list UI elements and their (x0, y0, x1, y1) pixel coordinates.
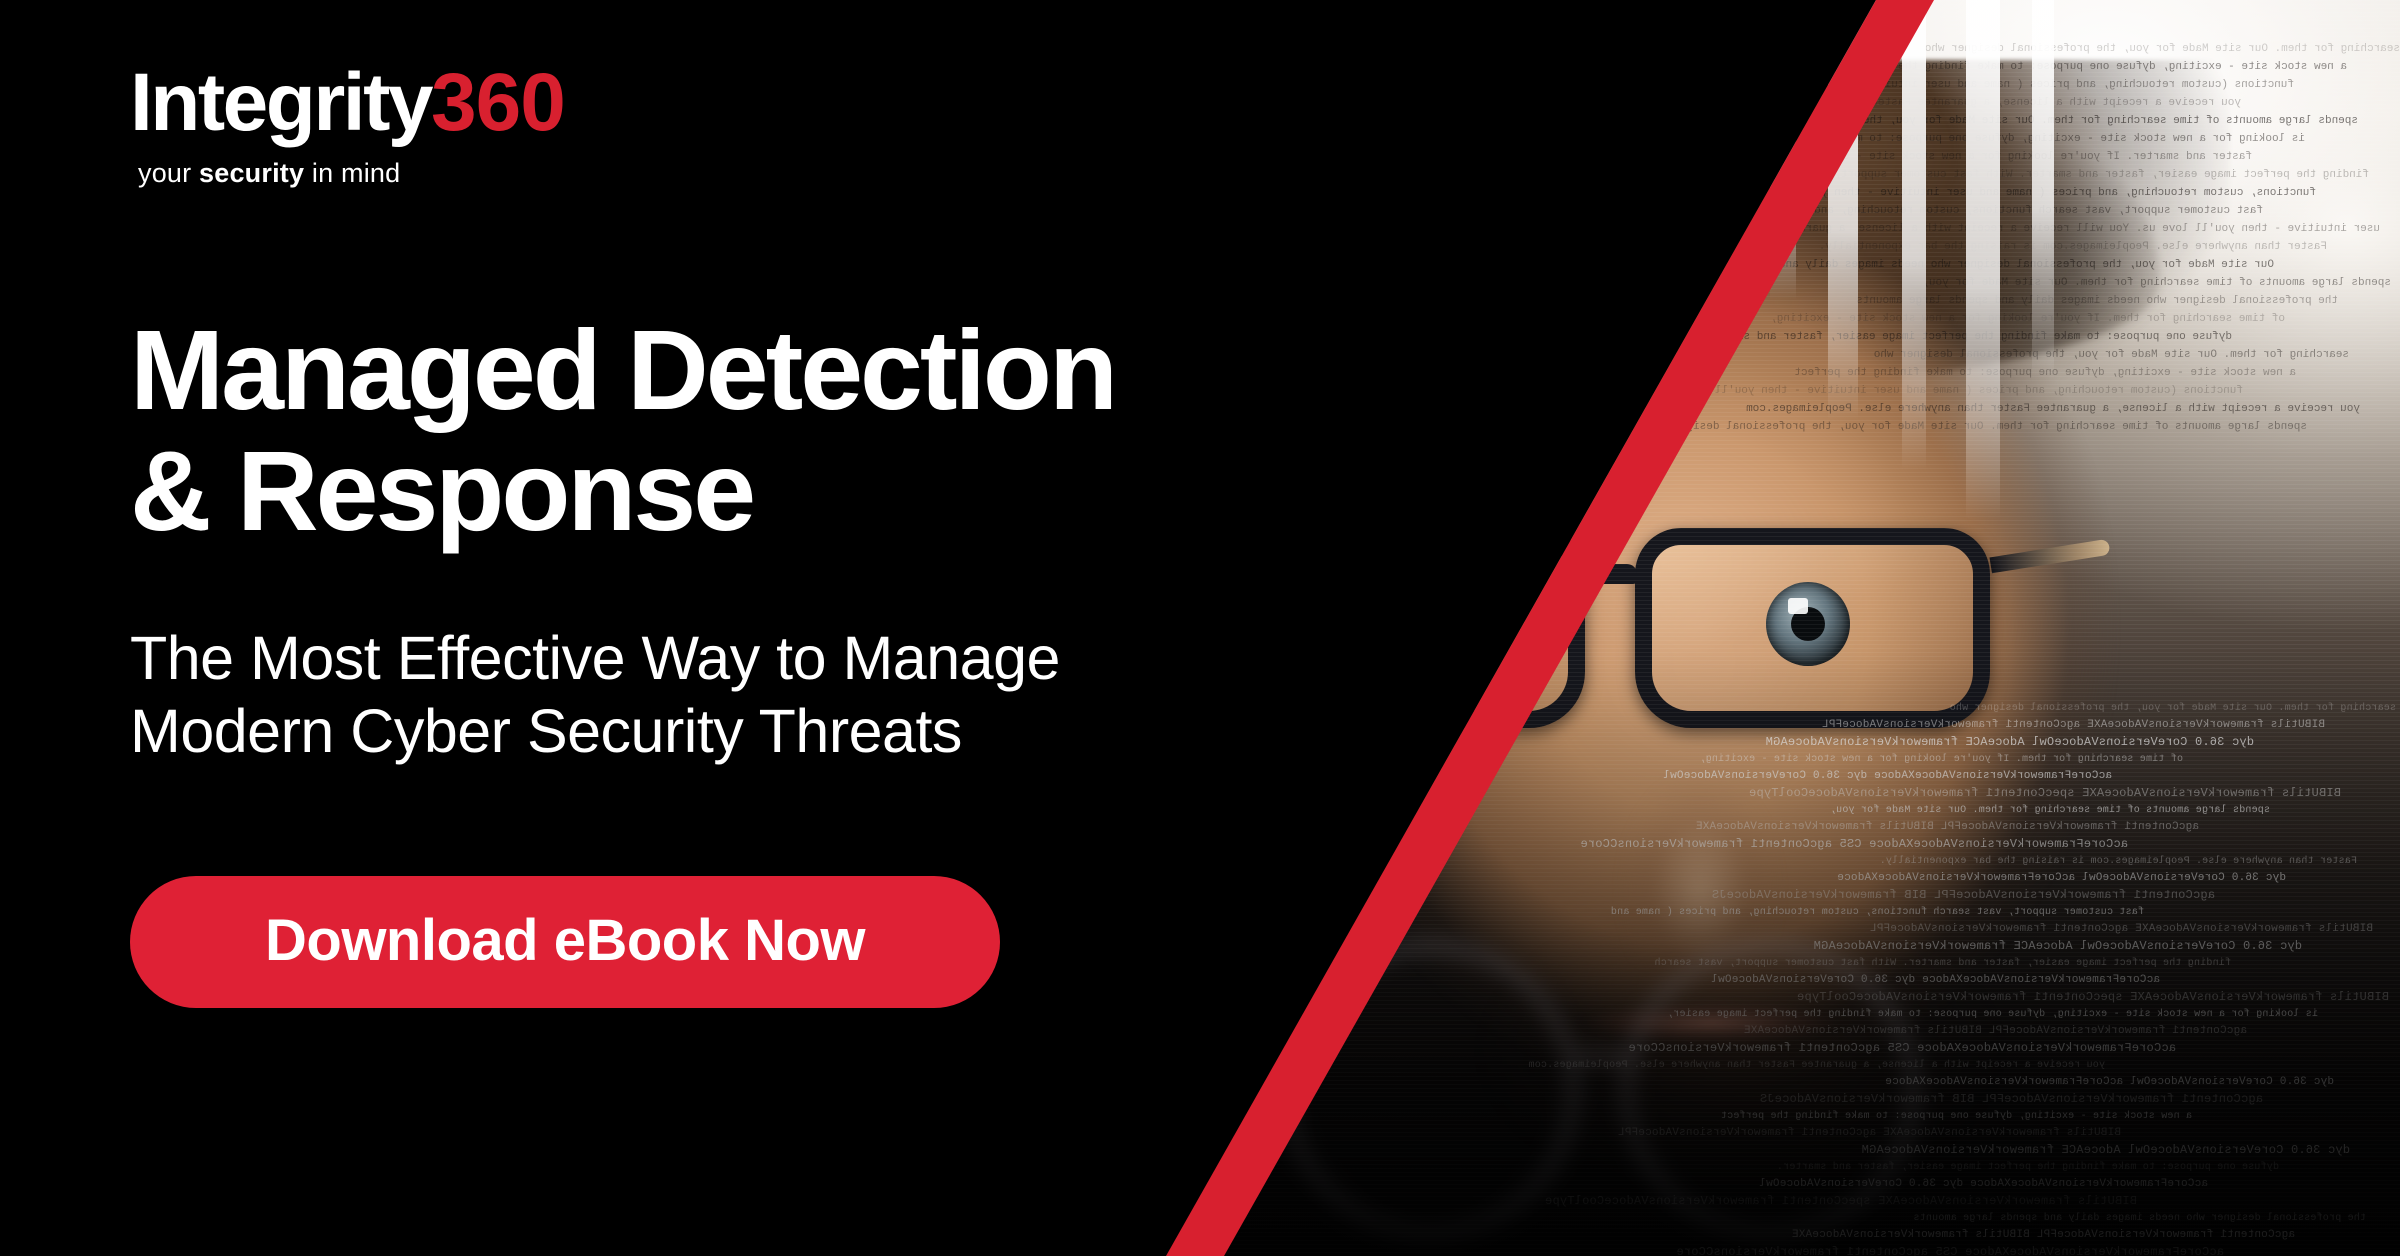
logo-wordmark: Integrity360 (130, 62, 565, 144)
download-ebook-button[interactable]: Download eBook Now (130, 876, 1000, 1008)
headline-line-1: Managed Detection (130, 307, 1115, 433)
logo-tagline: your security in mind (138, 158, 565, 189)
logo-brand-number: 360 (431, 57, 565, 148)
tagline-part-1: your (138, 158, 199, 188)
promo-banner: searching for them. Our site Made for yo… (0, 0, 2400, 1256)
tagline-part-2: in mind (304, 158, 400, 188)
headline-line-2: & Response (130, 431, 1530, 552)
subhead-line-2: Modern Cyber Security Threats (130, 695, 1430, 768)
tagline-emphasis: security (199, 158, 304, 188)
page-title: Managed Detection & Response (130, 310, 1530, 552)
brand-logo[interactable]: Integrity360 your security in mind (130, 62, 565, 189)
logo-brand-name: Integrity (130, 57, 431, 148)
page-subtitle: The Most Effective Way to Manage Modern … (130, 622, 1430, 768)
subhead-line-1: The Most Effective Way to Manage (130, 624, 1060, 692)
content-column: Integrity360 your security in mind Manag… (130, 0, 1630, 1256)
